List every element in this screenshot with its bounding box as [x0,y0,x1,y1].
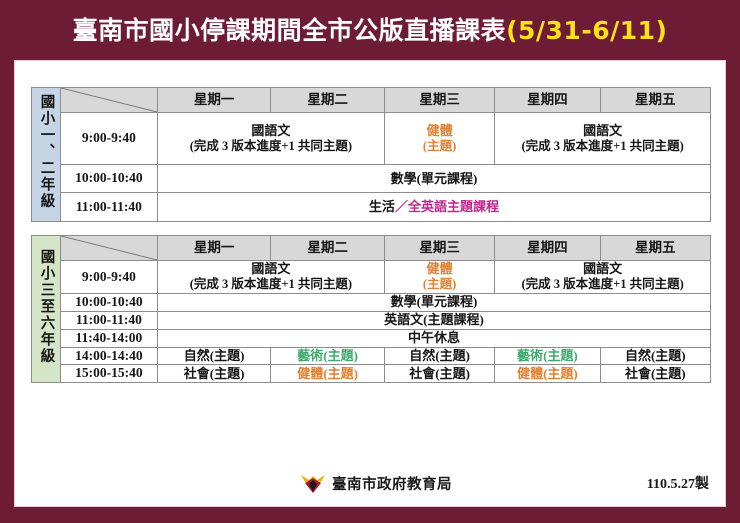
course-name: 英語文(主題課程) [384,312,484,327]
poster-frame: 臺南市國小停課期間全市公版直播課表(5/31-6/11) 國小一、二年級星期一星… [0,0,740,523]
day-header-3: 星期三 [384,88,494,113]
table-corner-diagonal [60,88,157,113]
time-slot: 10:00-10:40 [60,293,157,311]
course-cell: 自然(主題) [157,347,271,365]
course-cell: 自然(主題) [384,347,494,365]
day-header-1: 星期一 [157,236,271,261]
course-name: 自然(主題) [184,348,245,363]
course-cell: 藝術(主題) [495,347,600,365]
made-on-date: 110.5.27製 [647,473,709,493]
time-slot: 11:00-11:40 [60,193,157,221]
poster-body: 國小一、二年級星期一星期二星期三星期四星期五9:00-9:40國語文(完成 3 … [14,60,726,507]
day-header-4: 星期四 [495,88,600,113]
course-cell: 中午休息 [157,329,710,347]
tainan-city-phoenix-logo-icon [300,472,326,494]
course-name: 健體(主題) [297,366,358,381]
course-name: 國語文 [251,123,290,138]
table-header-row: 國小一、二年級星期一星期二星期三星期四星期五 [32,88,711,113]
course-cell: 健體(主題) [384,261,494,294]
course-detail: (完成 3 版本進度+1 共同主題) [160,139,382,155]
time-slot: 15:00-15:40 [60,365,157,383]
grade-label-text: 國小一、二年級 [38,94,53,210]
schedule-table-grade-1-2: 國小一、二年級星期一星期二星期三星期四星期五9:00-9:40國語文(完成 3 … [31,87,711,222]
course-name: 藝術(主題) [517,348,578,363]
page-title-main: 臺南市國小停課期間全市公版直播課表 [73,16,507,45]
table-row: 10:00-10:40數學(單元課程) [32,293,711,311]
issuing-organization: 臺南市政府教育局 [300,472,452,494]
course-cell: 英語文(主題課程) [157,311,710,329]
course-cell: 國語文(完成 3 版本進度+1 共同主題) [495,113,711,165]
course-name: 中午休息 [408,330,460,345]
org-name: 臺南市政府教育局 [332,473,452,494]
time-slot: 11:00-11:40 [60,311,157,329]
table-row: 10:00-10:40數學(單元課程) [32,165,711,193]
time-slot: 9:00-9:40 [60,261,157,294]
table-header-row: 國小三至六年級星期一星期二星期三星期四星期五 [32,236,711,261]
table-corner-diagonal [60,236,157,261]
course-name: 健體(主題) [517,366,578,381]
day-header-5: 星期五 [600,236,710,261]
course-detail: (主題) [387,277,492,293]
course-name: 數學(單元課程) [391,171,478,186]
course-detail: (完成 3 版本進度+1 共同主題) [497,277,708,293]
grade-label: 國小三至六年級 [32,236,61,383]
table-row: 11:00-11:40生活／全英語主題課程 [32,193,711,221]
table-row: 9:00-9:40國語文(完成 3 版本進度+1 共同主題)健體(主題)國語文(… [32,261,711,294]
time-slot: 9:00-9:40 [60,113,157,165]
time-slot: 11:40-14:00 [60,329,157,347]
course-name: 健體 [427,123,453,138]
course-cell: 社會(主題) [384,365,494,383]
table-row: 14:00-14:40自然(主題)藝術(主題)自然(主題)藝術(主題)自然(主題… [32,347,711,365]
course-cell: 數學(單元課程) [157,165,710,193]
time-slot: 14:00-14:40 [60,347,157,365]
course-cell: 社會(主題) [157,365,271,383]
grade-label-text: 國小三至六年級 [38,249,53,365]
course-name: 國語文 [583,123,622,138]
schedule-table-grade-3-6: 國小三至六年級星期一星期二星期三星期四星期五9:00-9:40國語文(完成 3 … [31,235,711,383]
table-row: 9:00-9:40國語文(完成 3 版本進度+1 共同主題)健體(主題)國語文(… [32,113,711,165]
course-name: 自然(主題) [625,348,686,363]
course-name: 健體 [427,261,453,276]
course-cell: 國語文(完成 3 版本進度+1 共同主題) [157,261,384,294]
day-header-3: 星期三 [384,236,494,261]
day-header-1: 星期一 [157,88,271,113]
course-name: 國語文 [251,261,290,276]
course-name: 生活 [369,199,395,214]
course-cell: 健體(主題) [495,365,600,383]
course-name: 社會(主題) [184,366,245,381]
time-slot: 10:00-10:40 [60,165,157,193]
course-cell: 健體(主題) [271,365,385,383]
table-row: 11:40-14:00中午休息 [32,329,711,347]
table-row: 15:00-15:40社會(主題)健體(主題)社會(主題)健體(主題)社會(主題… [32,365,711,383]
course-name: 數學(單元課程) [391,294,478,309]
course-name: 自然(主題) [409,348,470,363]
course-name-suffix: ／全英語主題課程 [395,199,499,214]
course-cell: 藝術(主題) [271,347,385,365]
course-cell: 生活／全英語主題課程 [157,193,710,221]
grade-label: 國小一、二年級 [32,88,61,222]
course-cell: 數學(單元課程) [157,293,710,311]
course-name: 社會(主題) [625,366,686,381]
day-header-5: 星期五 [600,88,710,113]
course-detail: (完成 3 版本進度+1 共同主題) [160,277,382,293]
course-detail: (主題) [387,139,492,155]
title-bar: 臺南市國小停課期間全市公版直播課表(5/31-6/11) [0,0,740,58]
course-detail: (完成 3 版本進度+1 共同主題) [497,139,708,155]
day-header-4: 星期四 [495,236,600,261]
course-cell: 國語文(完成 3 版本進度+1 共同主題) [495,261,711,294]
course-cell: 國語文(完成 3 版本進度+1 共同主題) [157,113,384,165]
table-row: 11:00-11:40英語文(主題課程) [32,311,711,329]
page-title-date: (5/31-6/11) [506,16,667,45]
day-header-2: 星期二 [271,236,385,261]
course-cell: 健體(主題) [384,113,494,165]
day-header-2: 星期二 [271,88,385,113]
page-title: 臺南市國小停課期間全市公版直播課表(5/31-6/11) [73,11,668,47]
course-cell: 社會(主題) [600,365,710,383]
course-name: 藝術(主題) [297,348,358,363]
course-name: 國語文 [583,261,622,276]
course-name: 社會(主題) [409,366,470,381]
footer: 臺南市政府教育局 110.5.27製 [15,468,727,498]
course-cell: 自然(主題) [600,347,710,365]
